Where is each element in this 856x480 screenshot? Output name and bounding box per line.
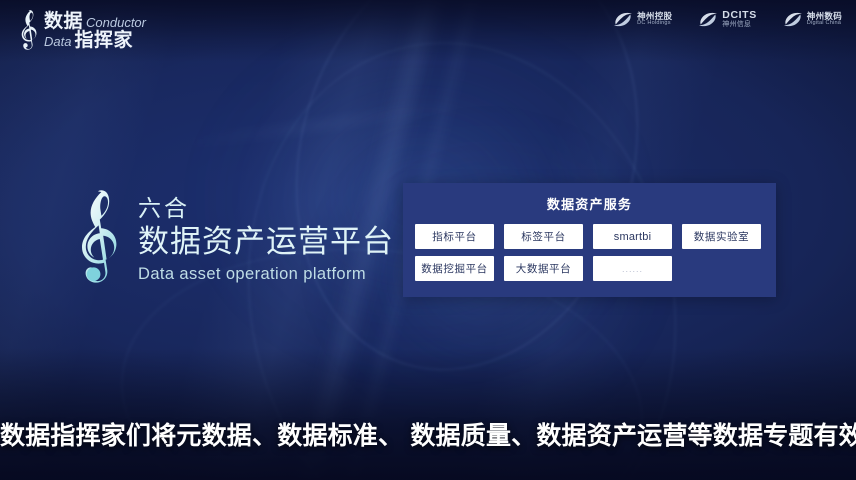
partner-name-en: Digital China [807, 21, 842, 27]
swoosh-logo-mark-icon [698, 11, 718, 28]
slide-root: 数据 Conductor Data 指挥家 神州控股 DC Holdings [0, 0, 856, 480]
service-card-more[interactable]: ...... [593, 256, 672, 281]
data-asset-service-panel: 数据资产服务 指标平台 标签平台 smartbi 数据实验室 数据挖掘平台 大数… [403, 183, 776, 297]
partner-name-en: 神州信息 [722, 21, 757, 28]
brand-text: 数据 Conductor Data 指挥家 [44, 12, 146, 50]
service-card-dashuju-pingtai[interactable]: 大数据平台 [504, 256, 583, 281]
service-card-shuju-shiyanshi[interactable]: 数据实验室 [682, 224, 761, 249]
brand-line1-cn: 数据 [44, 12, 83, 31]
partner-words: 神州控股 DC Holdings [637, 12, 672, 27]
panel-card-grid: 指标平台 标签平台 smartbi 数据实验室 数据挖掘平台 大数据平台 ...… [403, 224, 776, 281]
platform-title-small: 六合 [138, 194, 394, 223]
service-card-shuju-wajue-pingtai[interactable]: 数据挖掘平台 [415, 256, 494, 281]
brand-line2-en: Data [44, 35, 71, 48]
brand-line-2: Data 指挥家 [44, 31, 146, 50]
platform-title-main: 数据资产运营平台 [138, 223, 394, 262]
platform-title-words: 六合 数据资产运营平台 Data asset operation platfor… [138, 194, 394, 285]
panel-card-row: 指标平台 标签平台 smartbi 数据实验室 [415, 224, 764, 249]
partner-logo-digital-china: 神州数码 Digital China [783, 11, 842, 28]
brand-line1-en: Conductor [86, 16, 146, 29]
panel-title: 数据资产服务 [403, 194, 776, 213]
service-card-zhibiao-pingtai[interactable]: 指标平台 [415, 224, 494, 249]
platform-title-subtitle: Data asset operation platform [138, 265, 394, 284]
partner-name-cn: DCITS [722, 10, 757, 21]
partner-words: 神州数码 Digital China [807, 12, 842, 27]
partner-name-en: DC Holdings [637, 21, 672, 27]
treble-clef-icon [68, 183, 130, 295]
service-card-smartbi[interactable]: smartbi [593, 224, 672, 249]
swoosh-logo-mark-icon [613, 11, 633, 28]
brand-line-1: 数据 Conductor [44, 12, 146, 31]
platform-title-block: 六合 数据资产运营平台 Data asset operation platfor… [68, 183, 394, 295]
slide-caption: 数据指挥家们将元数据、数据标准、 数据质量、数据资产运营等数据专题有效融合 [0, 416, 856, 452]
partner-words: DCITS 神州信息 [722, 10, 757, 28]
brand-logo: 数据 Conductor Data 指挥家 [16, 6, 146, 56]
background-bottom-fade [0, 348, 856, 480]
service-card-biaoqian-pingtai[interactable]: 标签平台 [504, 224, 583, 249]
treble-clef-icon [16, 7, 42, 55]
panel-card-row: 数据挖掘平台 大数据平台 ...... [415, 256, 764, 281]
partner-logos: 神州控股 DC Holdings DCITS 神州信息 神州数码 Digital… [613, 10, 842, 28]
partner-logo-dcits: DCITS 神州信息 [698, 10, 757, 28]
brand-line2-cn: 指挥家 [74, 31, 133, 50]
swoosh-logo-mark-icon [783, 11, 803, 28]
partner-logo-dc-holdings: 神州控股 DC Holdings [613, 11, 672, 28]
